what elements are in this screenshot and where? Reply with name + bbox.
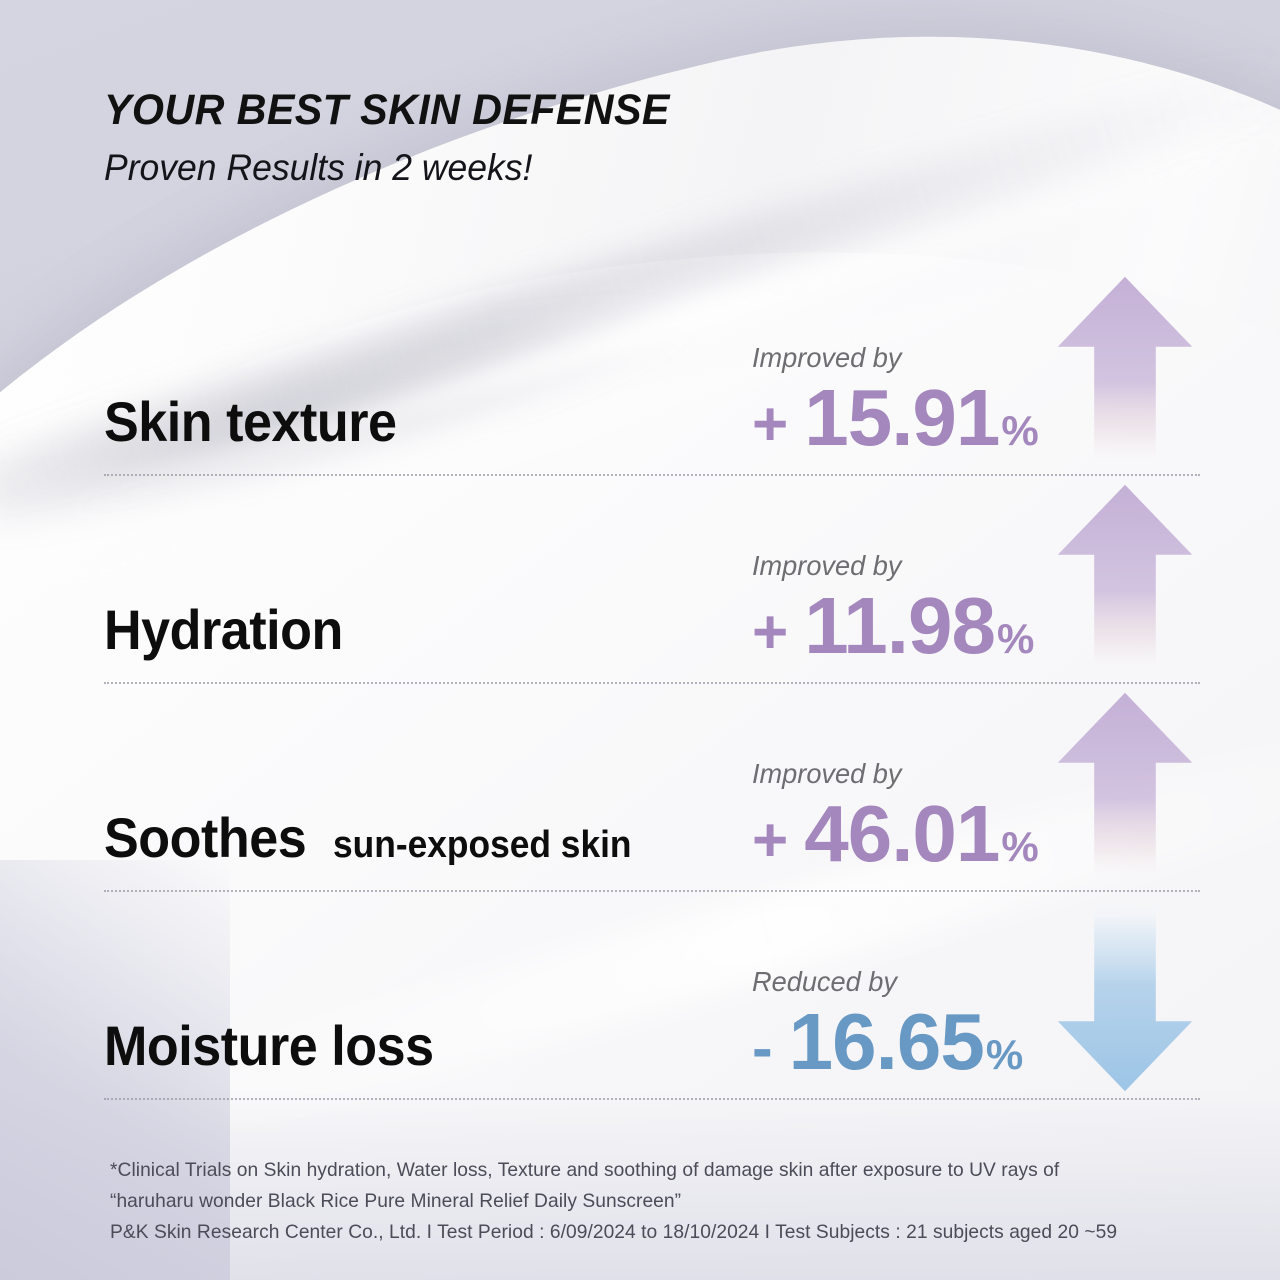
value-sign: - — [752, 1018, 773, 1080]
value-sign: + — [752, 394, 788, 456]
value-line: +15.91% — [752, 378, 1039, 458]
metric-name: Hydration — [104, 597, 343, 662]
stat-row: HydrationImproved by+11.98% — [0, 476, 1280, 684]
value-unit: % — [1001, 410, 1038, 452]
value-caption: Improved by — [752, 758, 1030, 790]
metric-name: Moisture loss — [104, 1013, 434, 1078]
stat-rows: Skin textureImproved by+15.91%HydrationI… — [0, 268, 1280, 1100]
arrow-up-icon — [1055, 690, 1195, 886]
infographic-poster: YOUR BEST SKIN DEFENSE Proven Results in… — [0, 0, 1280, 1280]
metric-label: Moisture loss — [104, 1013, 458, 1078]
footnote-line-2: “haruharu wonder Black Rice Pure Mineral… — [110, 1186, 1117, 1217]
value-number: 15.91 — [804, 378, 999, 458]
footnote-line-1: *Clinical Trials on Skin hydration, Wate… — [110, 1155, 1117, 1186]
value-number: 16.65 — [789, 1002, 984, 1082]
metric-name: Soothes — [104, 805, 306, 870]
header-block: YOUR BEST SKIN DEFENSE Proven Results in… — [104, 88, 693, 189]
page-title: YOUR BEST SKIN DEFENSE — [104, 88, 670, 133]
metric-label: Skin texture — [104, 389, 419, 454]
stat-row: Soothessun-exposed skinImproved by+46.01… — [0, 684, 1280, 892]
value-block: Improved by+46.01% — [752, 758, 1039, 874]
metric-label: Hydration — [104, 597, 361, 662]
value-unit: % — [997, 618, 1034, 660]
row-divider — [104, 1098, 1200, 1100]
value-number: 11.98 — [804, 586, 995, 666]
value-caption: Improved by — [752, 550, 1026, 582]
metric-qualifier: sun-exposed skin — [333, 824, 632, 867]
value-block: Reduced by-16.65% — [752, 966, 1023, 1082]
arrow-up-icon — [1055, 274, 1195, 470]
value-caption: Improved by — [752, 342, 1030, 374]
arrow-down-icon — [1055, 898, 1195, 1094]
value-line: -16.65% — [752, 1002, 1023, 1082]
page-subtitle: Proven Results in 2 weeks! — [104, 147, 670, 189]
footnote-block: *Clinical Trials on Skin hydration, Wate… — [110, 1155, 1132, 1249]
value-unit: % — [986, 1034, 1023, 1076]
stat-row: Moisture lossReduced by-16.65% — [0, 892, 1280, 1100]
value-unit: % — [1001, 826, 1038, 868]
value-line: +11.98% — [752, 586, 1034, 666]
metric-name: Skin texture — [104, 389, 397, 454]
value-sign: + — [752, 602, 788, 664]
arrow-up-icon — [1055, 482, 1195, 678]
value-sign: + — [752, 810, 788, 872]
footnote-line-3: P&K Skin Research Center Co., Ltd. I Tes… — [110, 1217, 1117, 1248]
value-number: 46.01 — [804, 794, 999, 874]
metric-label: Soothessun-exposed skin — [104, 805, 654, 870]
stat-row: Skin textureImproved by+15.91% — [0, 268, 1280, 476]
value-caption: Reduced by — [752, 966, 1015, 998]
value-line: +46.01% — [752, 794, 1039, 874]
value-block: Improved by+11.98% — [752, 550, 1034, 666]
value-block: Improved by+15.91% — [752, 342, 1039, 458]
